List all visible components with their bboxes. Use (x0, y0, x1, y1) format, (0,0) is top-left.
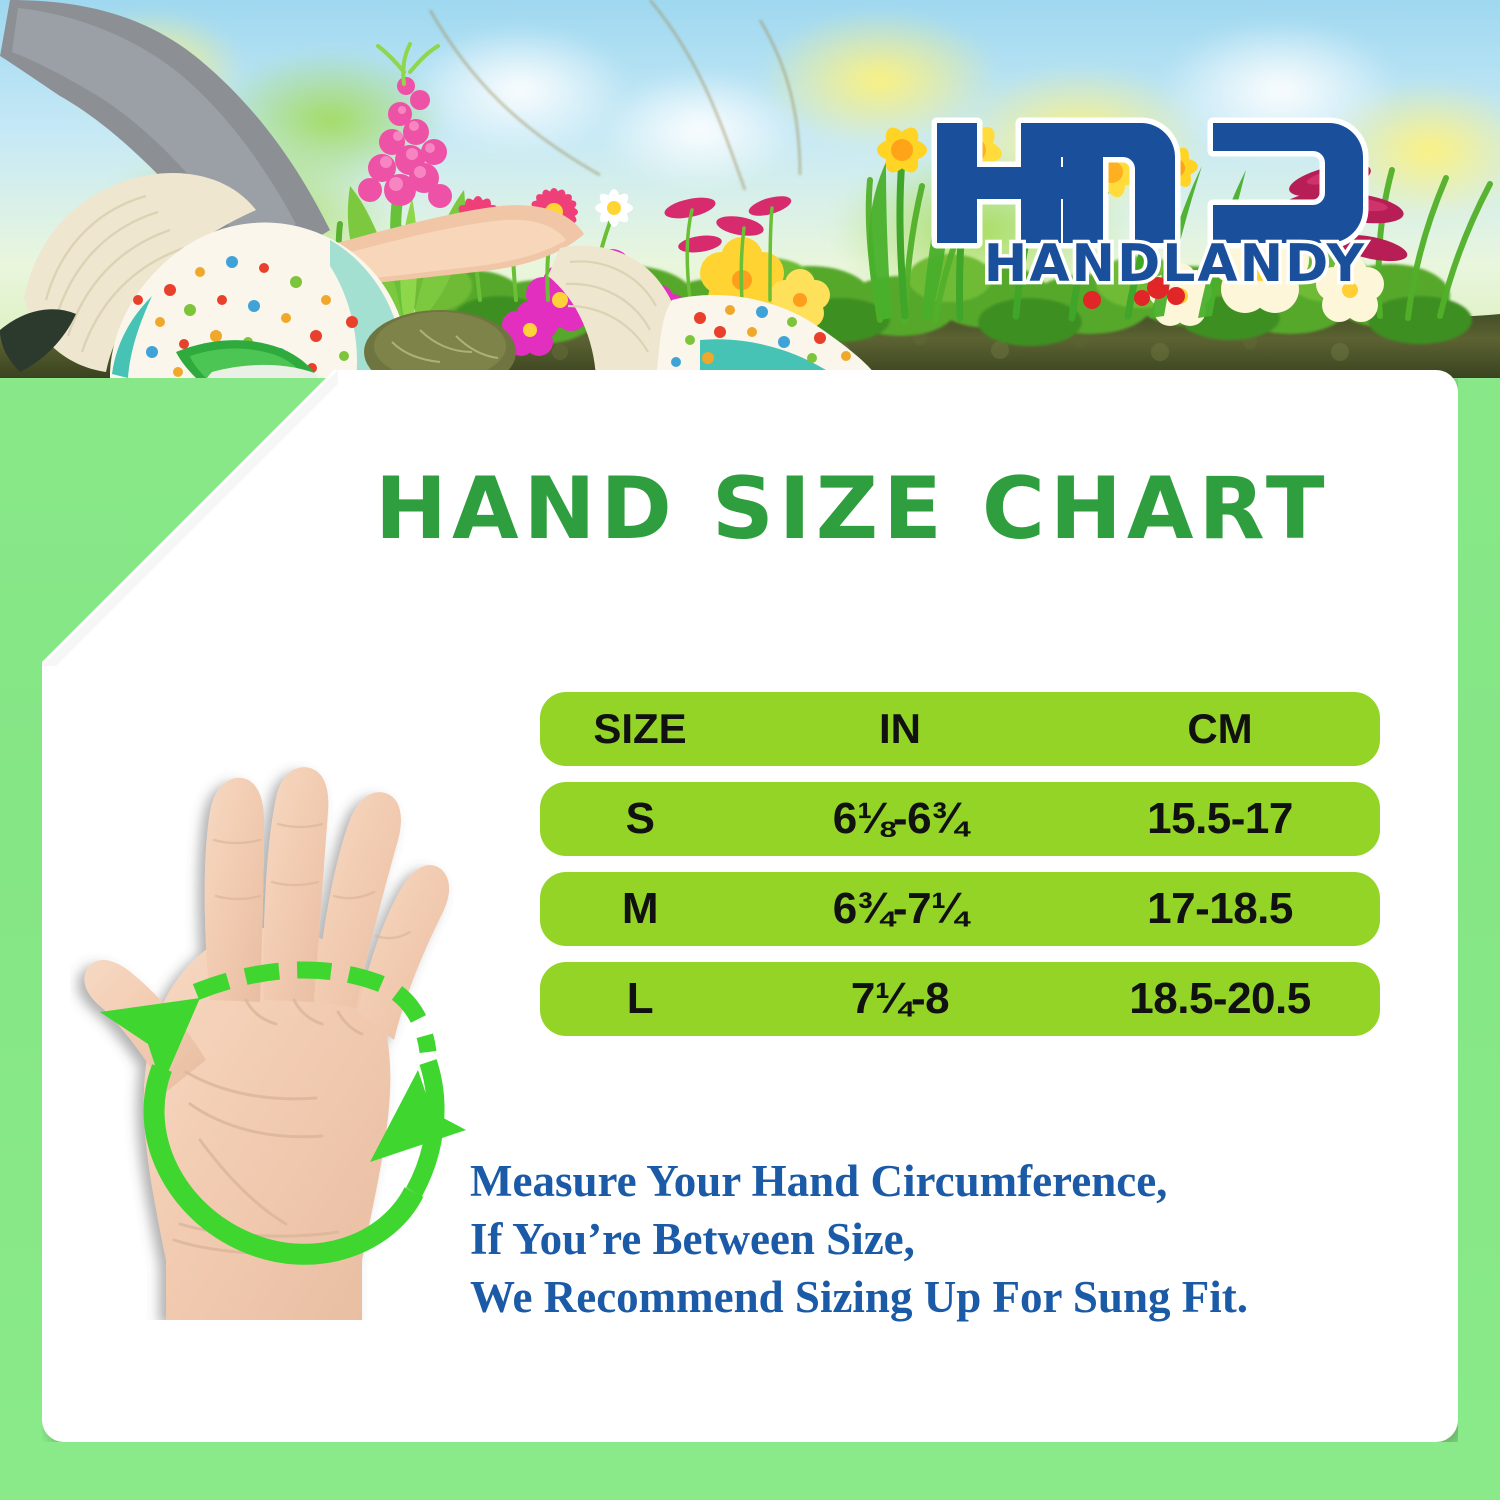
cell-size: S (540, 797, 740, 841)
sizing-note-line-1: Measure Your Hand Circumference, (470, 1152, 1370, 1210)
cell-cm: 17-18.5 (1060, 887, 1380, 931)
column-header-size: SIZE (540, 708, 740, 750)
cell-cm: 18.5-20.5 (1060, 977, 1380, 1021)
table-row: L 7¼-8 18.5-20.5 (540, 962, 1380, 1036)
column-header-in: IN (740, 708, 1060, 750)
cell-in: 6⅛-6¾ (740, 797, 1060, 841)
column-header-cm: CM (1060, 708, 1380, 750)
page-title-text: HAND SIZE CHART (375, 466, 1329, 552)
page-title: HAND SIZE CHART (375, 466, 1415, 552)
cell-size: M (540, 887, 740, 931)
sizing-note-line-2: If You’re Between Size, (470, 1210, 1370, 1268)
size-table: SIZE IN CM S 6⅛-6¾ 15.5-17 M 6¾-7¼ 17-18… (540, 692, 1380, 1052)
table-row: S 6⅛-6¾ 15.5-17 (540, 782, 1380, 856)
cell-size: L (540, 977, 740, 1021)
brand-logo: HANDLANDY (925, 95, 1425, 290)
table-row: M 6¾-7¼ 17-18.5 (540, 872, 1380, 946)
cell-cm: 15.5-17 (1060, 797, 1380, 841)
sizing-note: Measure Your Hand Circumference, If You’… (470, 1152, 1370, 1326)
cell-in: 6¾-7¼ (740, 887, 1060, 931)
cell-in: 7¼-8 (740, 977, 1060, 1021)
logo-wordmark-text: HANDLANDY (984, 234, 1366, 290)
sizing-note-line-3: We Recommend Sizing Up For Sung Fit. (470, 1268, 1370, 1326)
hand-illustration (70, 700, 490, 1320)
table-header-row: SIZE IN CM (540, 692, 1380, 766)
